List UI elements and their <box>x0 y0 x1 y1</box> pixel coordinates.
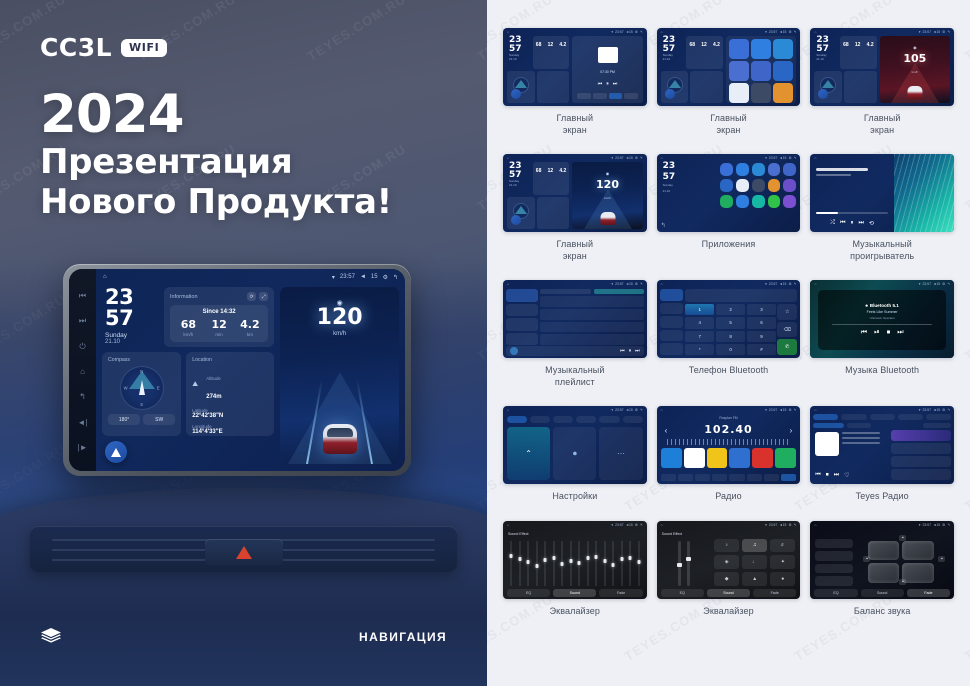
gear-icon[interactable]: ⚙ <box>383 274 388 281</box>
compass-direction: SW <box>143 414 175 425</box>
information-stats: 68 km/h 12 min <box>173 319 265 337</box>
thumb-time: 23:57 <box>769 523 778 527</box>
thumb-screen[interactable]: ⌂ ▾ 23:57 ◄15 ⚙ ↰ Sound Effect EQ SoundF… <box>503 521 647 599</box>
thumb-speed-panel: ◉ 120 km/h <box>572 162 642 229</box>
thumb-screen[interactable]: ⌂ ▾ 23:57 ◄15 ⚙ ↰ 123456789*0# ☆ ⌫✆ <box>657 280 801 358</box>
dashboard-shelf <box>0 488 487 686</box>
home-icon: ⌂ <box>507 523 509 527</box>
eq-slider[interactable] <box>627 541 633 586</box>
station-presets[interactable] <box>661 448 797 468</box>
balance-presets[interactable] <box>815 539 852 586</box>
home-icon: ⌂ <box>814 30 816 34</box>
back-icon: ↰ <box>640 408 643 412</box>
stop-icon: ⏹ <box>887 329 891 337</box>
dial-display <box>685 289 797 302</box>
eq-tab: EQ <box>661 589 704 597</box>
dial-key[interactable]: 0 <box>716 344 745 355</box>
gear-icon: ⚙ <box>635 408 638 412</box>
eq-tab: Sound <box>707 589 750 597</box>
gear-icon: ⚙ <box>635 30 638 34</box>
home-icon: ⌂ <box>814 282 816 286</box>
location-title: Location <box>192 357 268 363</box>
playlist-player-bar[interactable]: ⏮ ⏸⏭ <box>506 346 644 356</box>
thumb-time: 23:57 <box>615 282 624 286</box>
thumb-status-bar: ⌂ ▾ 23:57 ◄15 ⚙ ↰ <box>657 154 801 162</box>
home-icon: ⌂ <box>661 523 663 527</box>
volume-icon: ◄15 <box>933 408 940 412</box>
balance-down-icon[interactable]: ▪ <box>899 579 906 585</box>
volume-icon: ◄15 <box>779 282 786 286</box>
volume-icon: ◄15 <box>626 282 633 286</box>
thumb-status-bar: ⌂ ▾ 23:57 ◄15 ⚙ ↰ <box>657 28 801 36</box>
next-icon[interactable]: ⏭ <box>79 317 86 325</box>
screen-cell[interactable]: ⌂ ▾ 23:57 ◄15 ⚙ ↰ Sound Effect EQ SoundF… <box>503 521 647 618</box>
screen-caption: Телефон Bluetooth <box>689 365 769 377</box>
eq-preset-button[interactable]: ◆ <box>714 572 739 586</box>
watermark: TEYES.COM.RU <box>962 441 970 514</box>
screen-cell[interactable]: ⌂ ▾ 23:57 ◄15 ⚙ ↰ ⏮ ⏸⏭ Музыкальный плейл… <box>503 280 647 388</box>
wifi-icon: ▾ <box>611 523 613 527</box>
hazard-button[interactable] <box>205 539 283 565</box>
thumb-screen[interactable]: ⌂ ▾ 23:57 ◄15 ⚙ ↰ 23 57 Sunday 21.10 681… <box>503 28 647 106</box>
vol-up-icon[interactable]: |► <box>78 444 88 452</box>
vol-down-icon[interactable]: ◄| <box>78 419 88 427</box>
compass-dial: N E S W <box>120 366 164 410</box>
eq-preset-button[interactable]: ♪ <box>714 539 739 553</box>
compass-title: Compass <box>108 357 175 363</box>
next-icon: ⏭ <box>834 472 839 479</box>
dial-key[interactable]: 5 <box>716 317 745 328</box>
balance-up-icon[interactable]: ▪ <box>899 535 906 541</box>
thumb-nav-fab <box>511 215 521 225</box>
head-unit-side-buttons[interactable]: ⏮ ⏭ ⏻ ⌂ ↰ ◄| |► <box>69 269 96 471</box>
dial-key[interactable]: 2 <box>716 304 745 315</box>
play-icon: ⏯ <box>874 329 880 337</box>
altitude-label: Altitude <box>206 376 221 381</box>
app-icon <box>768 179 781 192</box>
eq-sliders[interactable] <box>508 541 642 586</box>
prev-icon: ⏮ <box>861 329 867 337</box>
app-icon <box>751 61 771 81</box>
eq-slider[interactable] <box>584 541 590 586</box>
logo-text: CC3L <box>40 33 112 62</box>
thumb-media-panel: 07:30 PM ⏮⏸⏭ <box>572 36 642 103</box>
thumb-screen[interactable]: ⌂ ▾ 23:57 ◄15 ⚙ ↰ 23 57 Sunday 21.10 681… <box>503 154 647 232</box>
repeat-icon: ⟲ <box>869 220 874 227</box>
screen-cell[interactable]: ⌂ ▾ 23:57 ◄15 ⚙ ↰ ⤮⏮ ⏸⏭⟲ Музыкальный про… <box>810 154 954 262</box>
thumb-status-bar: ⌂ ▾ 23:57 ◄15 ⚙ ↰ <box>503 406 647 414</box>
dial-key[interactable]: 7 <box>685 331 714 342</box>
car-dashboard-illustration: ⏮ ⏭ ⏻ ⌂ ↰ ◄| |► ⌂ ▾ 23:57 <box>0 256 487 686</box>
pause-icon: ⏸ <box>851 220 854 227</box>
back-icon[interactable]: ↰ <box>393 274 398 281</box>
prev-icon: ⏮ <box>840 220 845 227</box>
thumb-compass-card <box>814 71 842 104</box>
eq-slider[interactable] <box>508 541 514 586</box>
bluetooth-icon: ⏺ <box>865 303 867 308</box>
app-icon <box>729 61 749 81</box>
bt-track: Feels Like Summer <box>867 310 898 314</box>
thumb-status-bar: ⌂ ▾ 23:57 ◄15 ⚙ ↰ <box>503 154 647 162</box>
presentation-slide: TEYES.COM.RUTEYES.COM.RUTEYES.COM.RUTEYE… <box>0 0 970 686</box>
expand-icon[interactable]: ⤢ <box>259 292 268 301</box>
back-icon: ↰ <box>793 30 796 34</box>
thumb-status-bar: ⌂ ▾ 23:57 ◄15 ⚙ ↰ <box>503 521 647 529</box>
thumb-nav-fab <box>511 89 521 99</box>
thumb-time: 23:57 <box>922 282 931 286</box>
compass-card[interactable]: Compass N E S W <box>102 352 181 436</box>
dial-key[interactable]: 1 <box>685 304 714 315</box>
thumb-screen[interactable]: ⌂ ▾ 23:57 ◄15 ⚙ ↰ ▪ ▪ ▪ ▪ EQ SoundFade <box>810 521 954 599</box>
thumb-location-card <box>690 71 723 104</box>
nav-label: НАВИГАЦИЯ <box>359 630 447 644</box>
track-title <box>816 168 868 171</box>
app-icon <box>736 163 749 176</box>
thumb-status-bar: ⌂ ▾ 23:57 ◄15 ⚙ ↰ <box>810 28 954 36</box>
screen-caption: Музыка Bluetooth <box>845 365 919 377</box>
eq-slider[interactable] <box>542 541 548 586</box>
eq-preset-label: Sound Effect <box>662 532 683 536</box>
screen-cell[interactable]: ⌂ ▾ 23:57 ◄15 ⚙ ↰ 2357 Sunday21.10 ↰ При… <box>657 154 801 262</box>
navigation-arrow-icon[interactable] <box>105 441 127 463</box>
screen-cell[interactable]: ⌂ ▾ 23:57 ◄15 ⚙ ↰ Rosplan FM ‹ › 102.40 … <box>657 406 801 503</box>
backspace-icon: ⌫ <box>777 322 797 338</box>
wifi-icon: ▾ <box>765 30 767 34</box>
back-icon[interactable]: ↰ <box>79 393 86 401</box>
volume-icon[interactable]: ◄ <box>360 274 366 280</box>
dial-key[interactable]: # <box>747 344 776 355</box>
thumb-status-bar: ⌂ ▾ 23:57 ◄15 ⚙ ↰ <box>657 406 801 414</box>
thumb-compass-card <box>507 71 535 104</box>
volume-icon: ◄15 <box>933 523 940 527</box>
back-icon: ↰ <box>793 408 796 412</box>
next-icon: ⏭ <box>635 348 640 354</box>
screen-cell[interactable]: ⌂ ▾ 23:57 ◄15 ⚙ ↰ 123456789*0# ☆ ⌫✆ Теле… <box>657 280 801 388</box>
back-icon: ↰ <box>640 156 643 160</box>
car-graphic <box>323 424 357 454</box>
status-bar: ⌂ ▾ 23:57 ◄ 15 ⚙ ↰ <box>96 269 405 285</box>
more-icon[interactable]: ⋯ <box>599 427 642 480</box>
thumb-status-bar: ⌂ ▾ 23:57 ◄15 ⚙ ↰ <box>657 521 801 529</box>
wifi-icon: ▾ <box>611 156 613 160</box>
thumb-information-card: 68124.2 <box>686 36 723 69</box>
wifi-icon[interactable]: ▾ <box>332 274 335 281</box>
eq-preset-button[interactable]: ♩ <box>742 555 767 569</box>
eq-slider[interactable] <box>593 541 599 586</box>
stat-unit: km/h <box>173 332 204 337</box>
thumb-clock-minutes: 57 <box>661 45 685 54</box>
home-left-column: 23 57 Sunday 21.10 68124.2 <box>507 162 569 229</box>
eq-slider[interactable] <box>610 541 616 586</box>
home-icon: ⌂ <box>661 156 663 160</box>
radio-frequency: 102.40 <box>657 423 801 436</box>
wifi-icon: ▾ <box>611 30 613 34</box>
station-preset[interactable] <box>684 448 705 468</box>
wifi-icon: ▾ <box>919 30 921 34</box>
speaker-icon <box>902 563 934 583</box>
bluetooth-icon[interactable]: ⏺ <box>553 427 596 480</box>
waveform-graphic <box>894 154 954 232</box>
thumb-time: 23:57 <box>922 408 931 412</box>
frequency-scale[interactable] <box>667 439 791 445</box>
app-icon <box>729 39 749 59</box>
gear-icon: ⚙ <box>635 282 638 286</box>
watermark: TEYES.COM.RU <box>475 141 487 214</box>
dial-key[interactable]: 6 <box>747 317 776 328</box>
station-preset[interactable] <box>661 448 682 468</box>
eq-preset-button[interactable]: ▲ <box>742 572 767 586</box>
thumb-compass-card <box>507 197 535 230</box>
thumb-screen[interactable]: ⌂ ▾ 23:57 ◄15 ⚙ ↰ 2357 Sunday21.10 ↰ <box>657 154 801 232</box>
eq-preset-button[interactable]: ✦ <box>770 555 795 569</box>
compass-east-label: E <box>157 386 160 391</box>
home-left-column: 23 57 Sunday 21.10 68124.2 <box>507 36 569 103</box>
app-icon <box>752 163 765 176</box>
screen-cell[interactable]: ⌂ ▾ 23:57 ◄15 ⚙ ↰ Sound Effect ♪♫♬◈♩✦◆▲●… <box>657 521 801 618</box>
thumb-screen[interactable]: ⌂ ▾ 23:57 ◄15 ⚙ ↰ ⌃ ⏺ ⋯ <box>503 406 647 484</box>
compass-west-label: W <box>124 386 128 391</box>
clock-hours: 23 <box>105 287 158 308</box>
watermark: TEYES.COM.RU <box>475 0 487 64</box>
hero-title-line2: Нового Продукта! <box>40 182 392 222</box>
screen-cell[interactable]: ⌂ ▾ 23:57 ◄15 ⚙ ↰ ▪ ▪ ▪ ▪ EQ SoundFade Б… <box>810 521 954 618</box>
head-unit-screen: ⌂ ▾ 23:57 ◄ 15 ⚙ ↰ <box>96 269 405 471</box>
home-icon: ⌂ <box>814 408 816 412</box>
dial-key[interactable]: * <box>685 344 714 355</box>
compass-south-label: S <box>140 402 143 407</box>
station-preset[interactable] <box>707 448 728 468</box>
dial-key[interactable]: 4 <box>685 317 714 328</box>
screen-cell[interactable]: ⌂ ▾ 23:57 ◄15 ⚙ ↰ ⌃ ⏺ ⋯ Настройки <box>503 406 647 503</box>
app-icon <box>768 195 781 208</box>
altitude-icon: ⛰ <box>192 381 202 389</box>
eq-preset-button[interactable]: ♫ <box>742 539 767 553</box>
thumb-time: 23:57 <box>769 156 778 160</box>
watermark: TEYES.COM.RU <box>305 0 409 64</box>
back-icon: ↰ <box>793 523 796 527</box>
dial-key[interactable]: 9 <box>747 331 776 342</box>
dial-key[interactable]: 8 <box>716 331 745 342</box>
thumb-clock-date: 21.10 <box>814 57 838 61</box>
eq-slider[interactable] <box>618 541 624 586</box>
thumb-nav-fab <box>665 89 675 99</box>
information-card[interactable]: Information ⟳ ⤢ Since 14:32 <box>164 287 274 347</box>
eq-tab: Fade <box>599 589 642 597</box>
eq-tab: Fade <box>907 589 950 597</box>
thumb-status-bar: ⌂ ▾ 23:57 ◄15 ⚙ ↰ <box>810 280 954 288</box>
home-icon[interactable]: ⌂ <box>80 368 85 376</box>
eq-slider[interactable] <box>576 541 582 586</box>
eq-slider[interactable] <box>559 541 565 586</box>
speaker-icon <box>868 563 900 583</box>
thumb-screen[interactable]: ⌂ ▾ 23:57 ◄15 ⚙ ↰ ⏮ ⏸⏭ <box>503 280 647 358</box>
thumb-screen[interactable]: ⌂ ▾ 23:57 ◄15 ⚙ ↰ Sound Effect ♪♫♬◈♩✦◆▲●… <box>657 521 801 599</box>
compass-needle-icon <box>139 380 145 395</box>
speaker-grid[interactable] <box>868 541 934 583</box>
thumb-time: 23:57 <box>615 30 624 34</box>
gear-icon: ⚙ <box>942 523 945 527</box>
screen-cell[interactable]: ⌂ ▾ 23:57 ◄15 ⚙ ↰ 23 57 Sunday 21.10 681… <box>657 28 801 136</box>
eq-slider[interactable] <box>525 541 531 586</box>
compass-north-label: N <box>140 369 143 374</box>
stat-unit: km <box>235 332 266 337</box>
hero-title-line1: Презентация <box>40 142 392 182</box>
settings-tabs[interactable] <box>507 416 643 423</box>
thumb-screen[interactable]: ⌂ ▾ 23:57 ◄15 ⚙ ↰ 23 57 Sunday 21.10 681… <box>810 28 954 106</box>
playlist-sidebar[interactable] <box>506 289 538 345</box>
screen-caption: Главный экран <box>864 113 901 136</box>
screen-cell[interactable]: ⌂ ▾ 23:57 ◄15 ⚙ ↰ 23 57 Sunday 21.10 681… <box>503 28 647 136</box>
eq-preset-grid[interactable]: ♪♫♬◈♩✦◆▲● <box>714 539 795 586</box>
app-icon <box>783 195 796 208</box>
screen-cell[interactable]: ⌂ ▾ 23:57 ◄15 ⚙ ↰ 23 57 Sunday 21.10 681… <box>810 28 954 136</box>
call-icon: ✆ <box>777 339 797 355</box>
eq-tab: Sound <box>861 589 904 597</box>
status-time: 23:57 <box>340 274 355 280</box>
screen-caption: Эквалайзер <box>550 606 600 618</box>
screen-cell[interactable]: ⌂ ▾ 23:57 ◄15 ⚙ ↰ 23 57 Sunday 21.10 681… <box>503 154 647 262</box>
information-since: Since 14:32 <box>173 309 265 315</box>
thumb-time: 23:57 <box>615 523 624 527</box>
thumb-location-card <box>537 197 570 230</box>
volume-icon: ◄15 <box>779 156 786 160</box>
thumb-screen[interactable]: ⌂ ▾ 23:57 ◄15 ⚙ ↰ Rosplan FM ‹ › 102.40 <box>657 406 801 484</box>
eq-slider[interactable] <box>516 541 522 586</box>
back-icon: ↰ <box>947 523 950 527</box>
screen-caption: Настройки <box>552 491 597 503</box>
stat-value: 68 <box>173 319 204 330</box>
eq-slider[interactable] <box>567 541 573 586</box>
station-preset[interactable] <box>729 448 750 468</box>
app-icon <box>768 163 781 176</box>
screen-cell[interactable]: ⌂ ▾ 23:57 ◄15 ⚙ ↰ ⏮⏹ ⏭♡ Teyes Радио <box>810 406 954 503</box>
app-icon <box>752 195 765 208</box>
screen-caption: Музыкальный плейлист <box>545 365 604 388</box>
thumb-status-bar: ⌂ ▾ 23:57 ◄15 ⚙ ↰ <box>503 28 647 36</box>
volume-icon: ◄15 <box>626 408 633 412</box>
thumb-speed-panel: ◉ 105 km/h <box>880 36 950 103</box>
app-icon <box>751 83 771 103</box>
favorite-icon: ☆ <box>777 304 797 320</box>
screen-cell[interactable]: ⌂ ▾ 23:57 ◄15 ⚙ ↰ ⏺Bluetooth 5.1 Feels L… <box>810 280 954 388</box>
eq-preset-button[interactable]: ● <box>770 572 795 586</box>
wifi-icon: ▾ <box>919 408 921 412</box>
home-icon: ⌂ <box>661 282 663 286</box>
altitude-value: 274m <box>206 394 221 400</box>
thumb-screen[interactable]: ⌂ ▾ 23:57 ◄15 ⚙ ↰ 23 57 Sunday 21.10 681… <box>657 28 801 106</box>
wifi-icon: ▾ <box>611 282 613 286</box>
screen-caption: Главный экран <box>557 113 594 136</box>
dial-key[interactable]: 3 <box>747 304 776 315</box>
watermark: TEYES.COM.RU <box>962 141 970 214</box>
station-list[interactable] <box>891 430 951 480</box>
wifi-icon: ▾ <box>765 282 767 286</box>
back-icon: ↰ <box>947 30 950 34</box>
bt-artist: Unknown Operator <box>870 316 895 320</box>
refresh-icon[interactable]: ⟳ <box>247 292 256 301</box>
eq-slider[interactable] <box>635 541 641 586</box>
eq-slider[interactable] <box>533 541 539 586</box>
volume-icon: ◄15 <box>779 523 786 527</box>
app-icon <box>752 179 765 192</box>
eq-slider[interactable] <box>601 541 607 586</box>
screen-caption: Главный экран <box>710 113 747 136</box>
back-icon: ↰ <box>640 282 643 286</box>
home-icon: ⌂ <box>814 156 816 160</box>
station-preset[interactable] <box>775 448 796 468</box>
screens-gallery-panel: TEYES.COM.RUTEYES.COM.RUTEYES.COM.RUTEYE… <box>487 0 970 686</box>
volume-icon: ◄15 <box>779 30 786 34</box>
layers-icon[interactable] <box>40 627 62 650</box>
screen-caption: Эквалайзер <box>703 606 753 618</box>
home-icon[interactable]: ⌂ <box>103 274 107 280</box>
dial-pad[interactable]: 123456789*0# <box>685 304 776 355</box>
eq-preset-button[interactable]: ◈ <box>714 555 739 569</box>
gear-icon: ⚙ <box>788 156 791 160</box>
screen-caption: Баланс звука <box>854 606 911 618</box>
screen-caption: Приложения <box>702 239 756 251</box>
thumb-information-card: 68124.2 <box>533 36 570 69</box>
prev-icon[interactable]: ⏮ <box>79 292 86 300</box>
gear-icon: ⚙ <box>788 408 791 412</box>
product-logo: CC3L WIFI <box>40 33 167 62</box>
eq-level-sliders[interactable] <box>663 541 706 586</box>
album-art <box>815 432 839 456</box>
home-icon: ⌂ <box>507 156 509 160</box>
back-icon: ↰ <box>793 156 796 160</box>
station-preset[interactable] <box>752 448 773 468</box>
thumb-clock-date: 21.10 <box>507 57 531 61</box>
back-icon: ↰ <box>793 282 796 286</box>
eq-tab: EQ <box>507 589 550 597</box>
home-icon: ⌂ <box>507 282 509 286</box>
eq-slider[interactable] <box>550 541 556 586</box>
thumb-compass-card <box>661 71 689 104</box>
wifi-icon[interactable]: ⌃ <box>507 427 550 480</box>
radio-band: Rosplan FM <box>657 416 801 420</box>
thumb-time: 23:57 <box>615 408 624 412</box>
thumb-screen[interactable]: ⌂ ▾ 23:57 ◄15 ⚙ ↰ ⏮⏹ ⏭♡ <box>810 406 954 484</box>
screen-caption: Музыкальный проигрыватель <box>850 239 914 262</box>
app-icon <box>773 83 793 103</box>
home-icon: ⌂ <box>507 30 509 34</box>
screens-grid: ⌂ ▾ 23:57 ◄15 ⚙ ↰ 23 57 Sunday 21.10 681… <box>503 28 954 617</box>
home-icon: ⌂ <box>814 523 816 527</box>
speaker-icon <box>868 541 900 561</box>
home-icon: ⌂ <box>661 30 663 34</box>
wifi-badge: WIFI <box>121 39 167 57</box>
wifi-icon: ▾ <box>919 523 921 527</box>
power-icon[interactable]: ⏻ <box>79 343 85 351</box>
bt-title: Bluetooth 5.1 <box>870 303 899 308</box>
balance-right-icon[interactable]: ▪ <box>938 556 945 562</box>
app-icon <box>773 39 793 59</box>
screen-caption: Teyes Радио <box>856 491 909 503</box>
thumb-status-bar: ⌂ ▾ 23:57 ◄15 ⚙ ↰ <box>503 280 647 288</box>
head-unit-device: ⏮ ⏭ ⏻ ⌂ ↰ ◄| |► ⌂ ▾ 23:57 <box>63 264 411 476</box>
eq-tab: EQ <box>814 589 857 597</box>
location-card[interactable]: Location ⛰ Altitude 274m <box>186 352 274 436</box>
thumb-screen[interactable]: ⌂ ▾ 23:57 ◄15 ⚙ ↰ ⏺Bluetooth 5.1 Feels L… <box>810 280 954 358</box>
eq-preset-button[interactable]: ♬ <box>770 539 795 553</box>
stat-item: 68 km/h <box>173 319 204 337</box>
thumb-time: 23:57 <box>769 282 778 286</box>
thumb-screen[interactable]: ⌂ ▾ 23:57 ◄15 ⚙ ↰ ⤮⏮ ⏸⏭⟲ <box>810 154 954 232</box>
eq-tab: Sound <box>553 589 596 597</box>
speed-navigation-panel[interactable]: ◉ 120 km/h <box>280 287 399 464</box>
thumb-time: 23:57 <box>615 156 624 160</box>
prev-icon: ⏮ <box>620 348 625 354</box>
